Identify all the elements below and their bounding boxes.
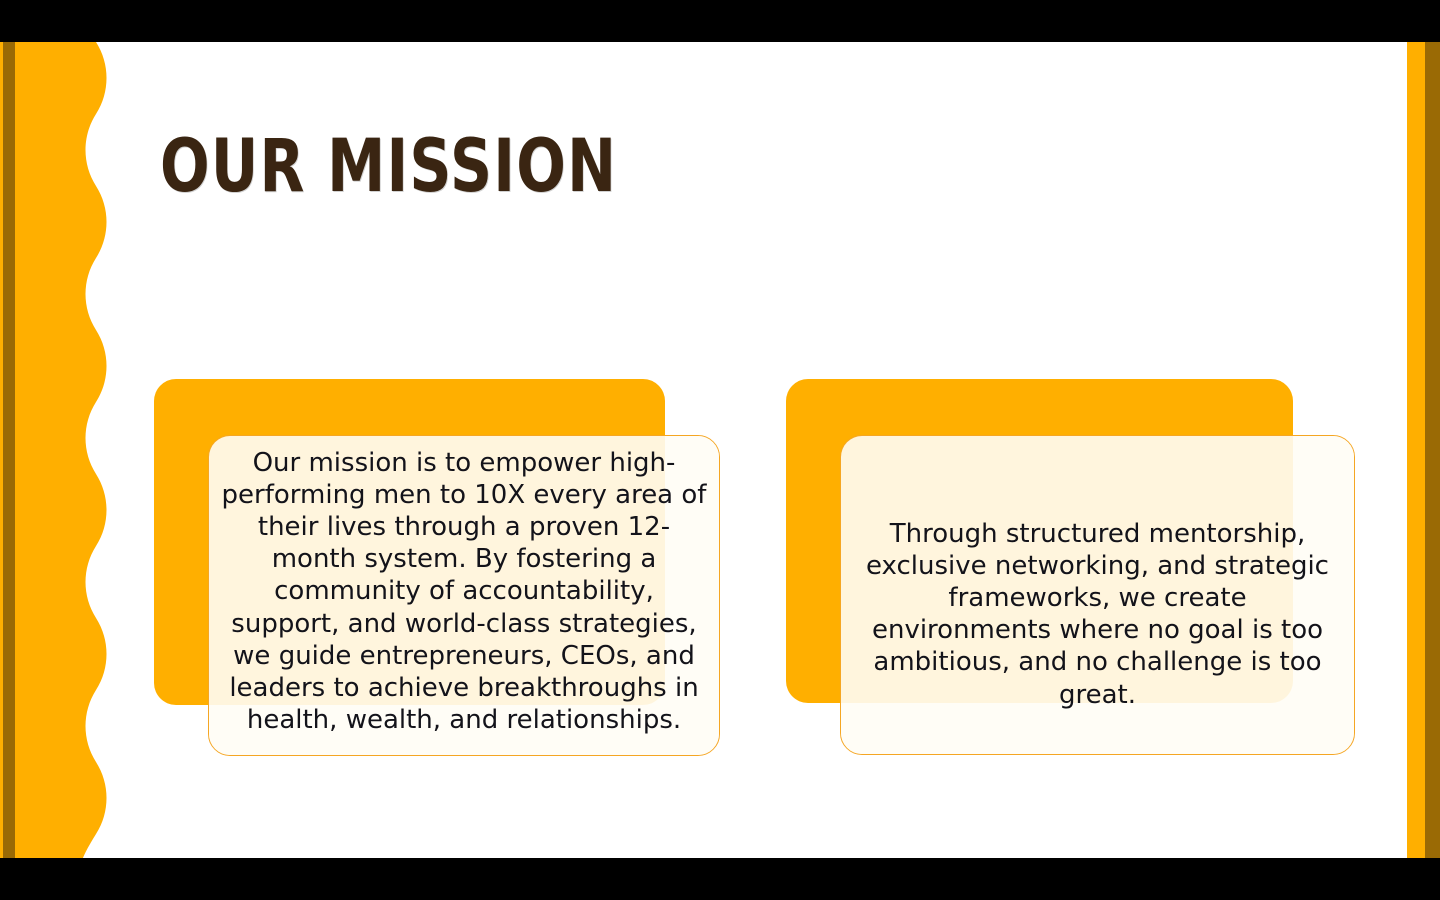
slide-root: OUR MISSION Our mission is to empower hi… xyxy=(0,0,1440,900)
dark-olive-edge-bar-decoration xyxy=(1425,42,1440,858)
mission-method-text: Through structured mentorship, exclusive… xyxy=(841,436,1354,711)
dark-olive-stripe-decoration xyxy=(3,42,15,858)
letterbox-bottom-bar xyxy=(0,858,1440,900)
slide-canvas: OUR MISSION Our mission is to empower hi… xyxy=(0,42,1440,858)
orange-edge-bar-decoration xyxy=(1407,42,1425,858)
mission-statement-card: Our mission is to empower high-performin… xyxy=(208,435,720,756)
mission-statement-text: Our mission is to empower high-performin… xyxy=(209,436,719,736)
page-title: OUR MISSION xyxy=(160,130,617,203)
wavy-orange-band-decoration xyxy=(0,42,130,858)
letterbox-top-bar xyxy=(0,0,1440,42)
mission-method-card: Through structured mentorship, exclusive… xyxy=(840,435,1355,755)
